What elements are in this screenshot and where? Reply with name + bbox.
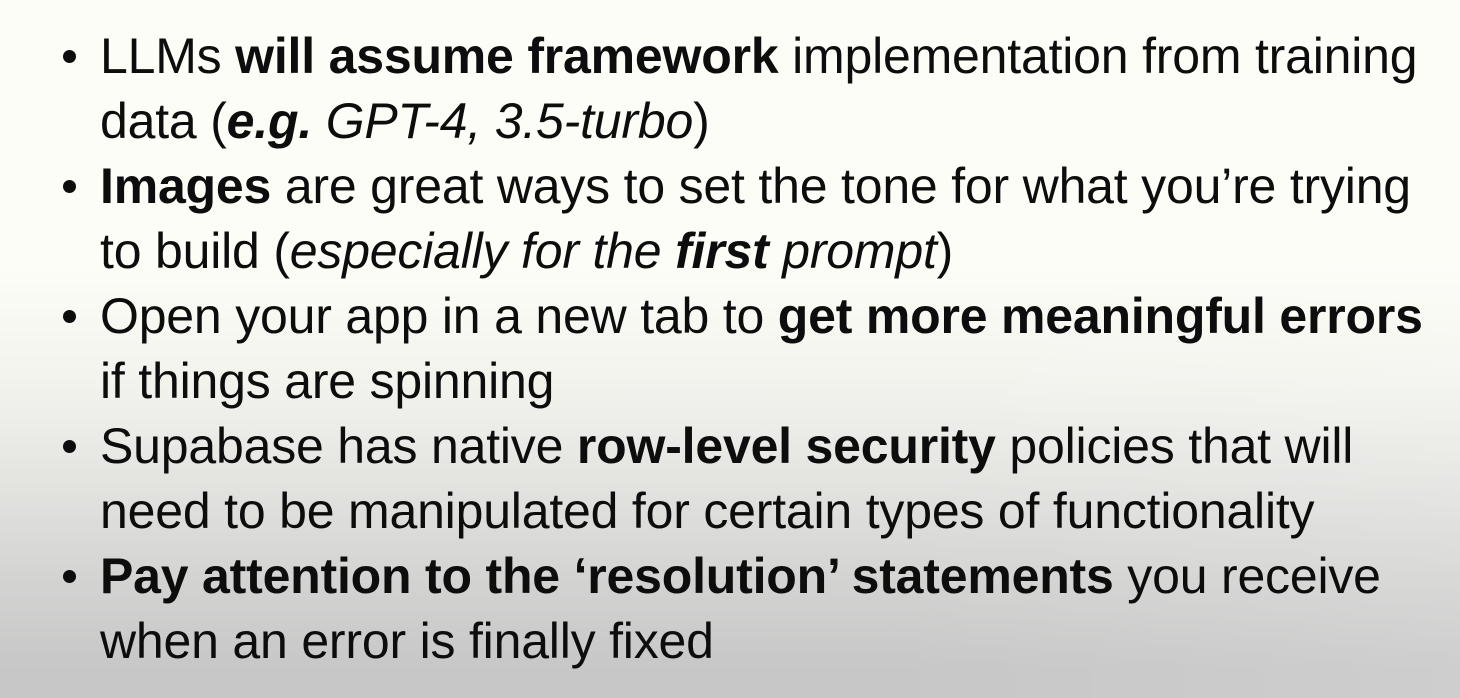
bullet-point-icon bbox=[63, 50, 76, 63]
bullet-text: Images are great ways to set the tone fo… bbox=[100, 158, 1411, 279]
bullet-text: Pay attention to the ‘resolution’ statem… bbox=[100, 548, 1381, 669]
bullet-point-icon bbox=[63, 180, 76, 193]
bullet-point-icon bbox=[63, 570, 76, 583]
list-item: Images are great ways to set the tone fo… bbox=[0, 154, 1460, 284]
bullet-text: Open your app in a new tab to get more m… bbox=[100, 288, 1423, 409]
slide-canvas: LLMs will assume framework implementatio… bbox=[0, 0, 1460, 698]
bullet-point-icon bbox=[63, 440, 76, 453]
bullet-point-icon bbox=[63, 310, 76, 323]
list-item: Pay attention to the ‘resolution’ statem… bbox=[0, 544, 1460, 674]
bullet-list: LLMs will assume framework implementatio… bbox=[0, 0, 1460, 674]
list-item: Supabase has native row-level security p… bbox=[0, 414, 1460, 544]
bullet-text: Supabase has native row-level security p… bbox=[100, 418, 1353, 539]
list-item: Open your app in a new tab to get more m… bbox=[0, 284, 1460, 414]
list-item: LLMs will assume framework implementatio… bbox=[0, 24, 1460, 154]
bullet-text: LLMs will assume framework implementatio… bbox=[100, 28, 1417, 149]
